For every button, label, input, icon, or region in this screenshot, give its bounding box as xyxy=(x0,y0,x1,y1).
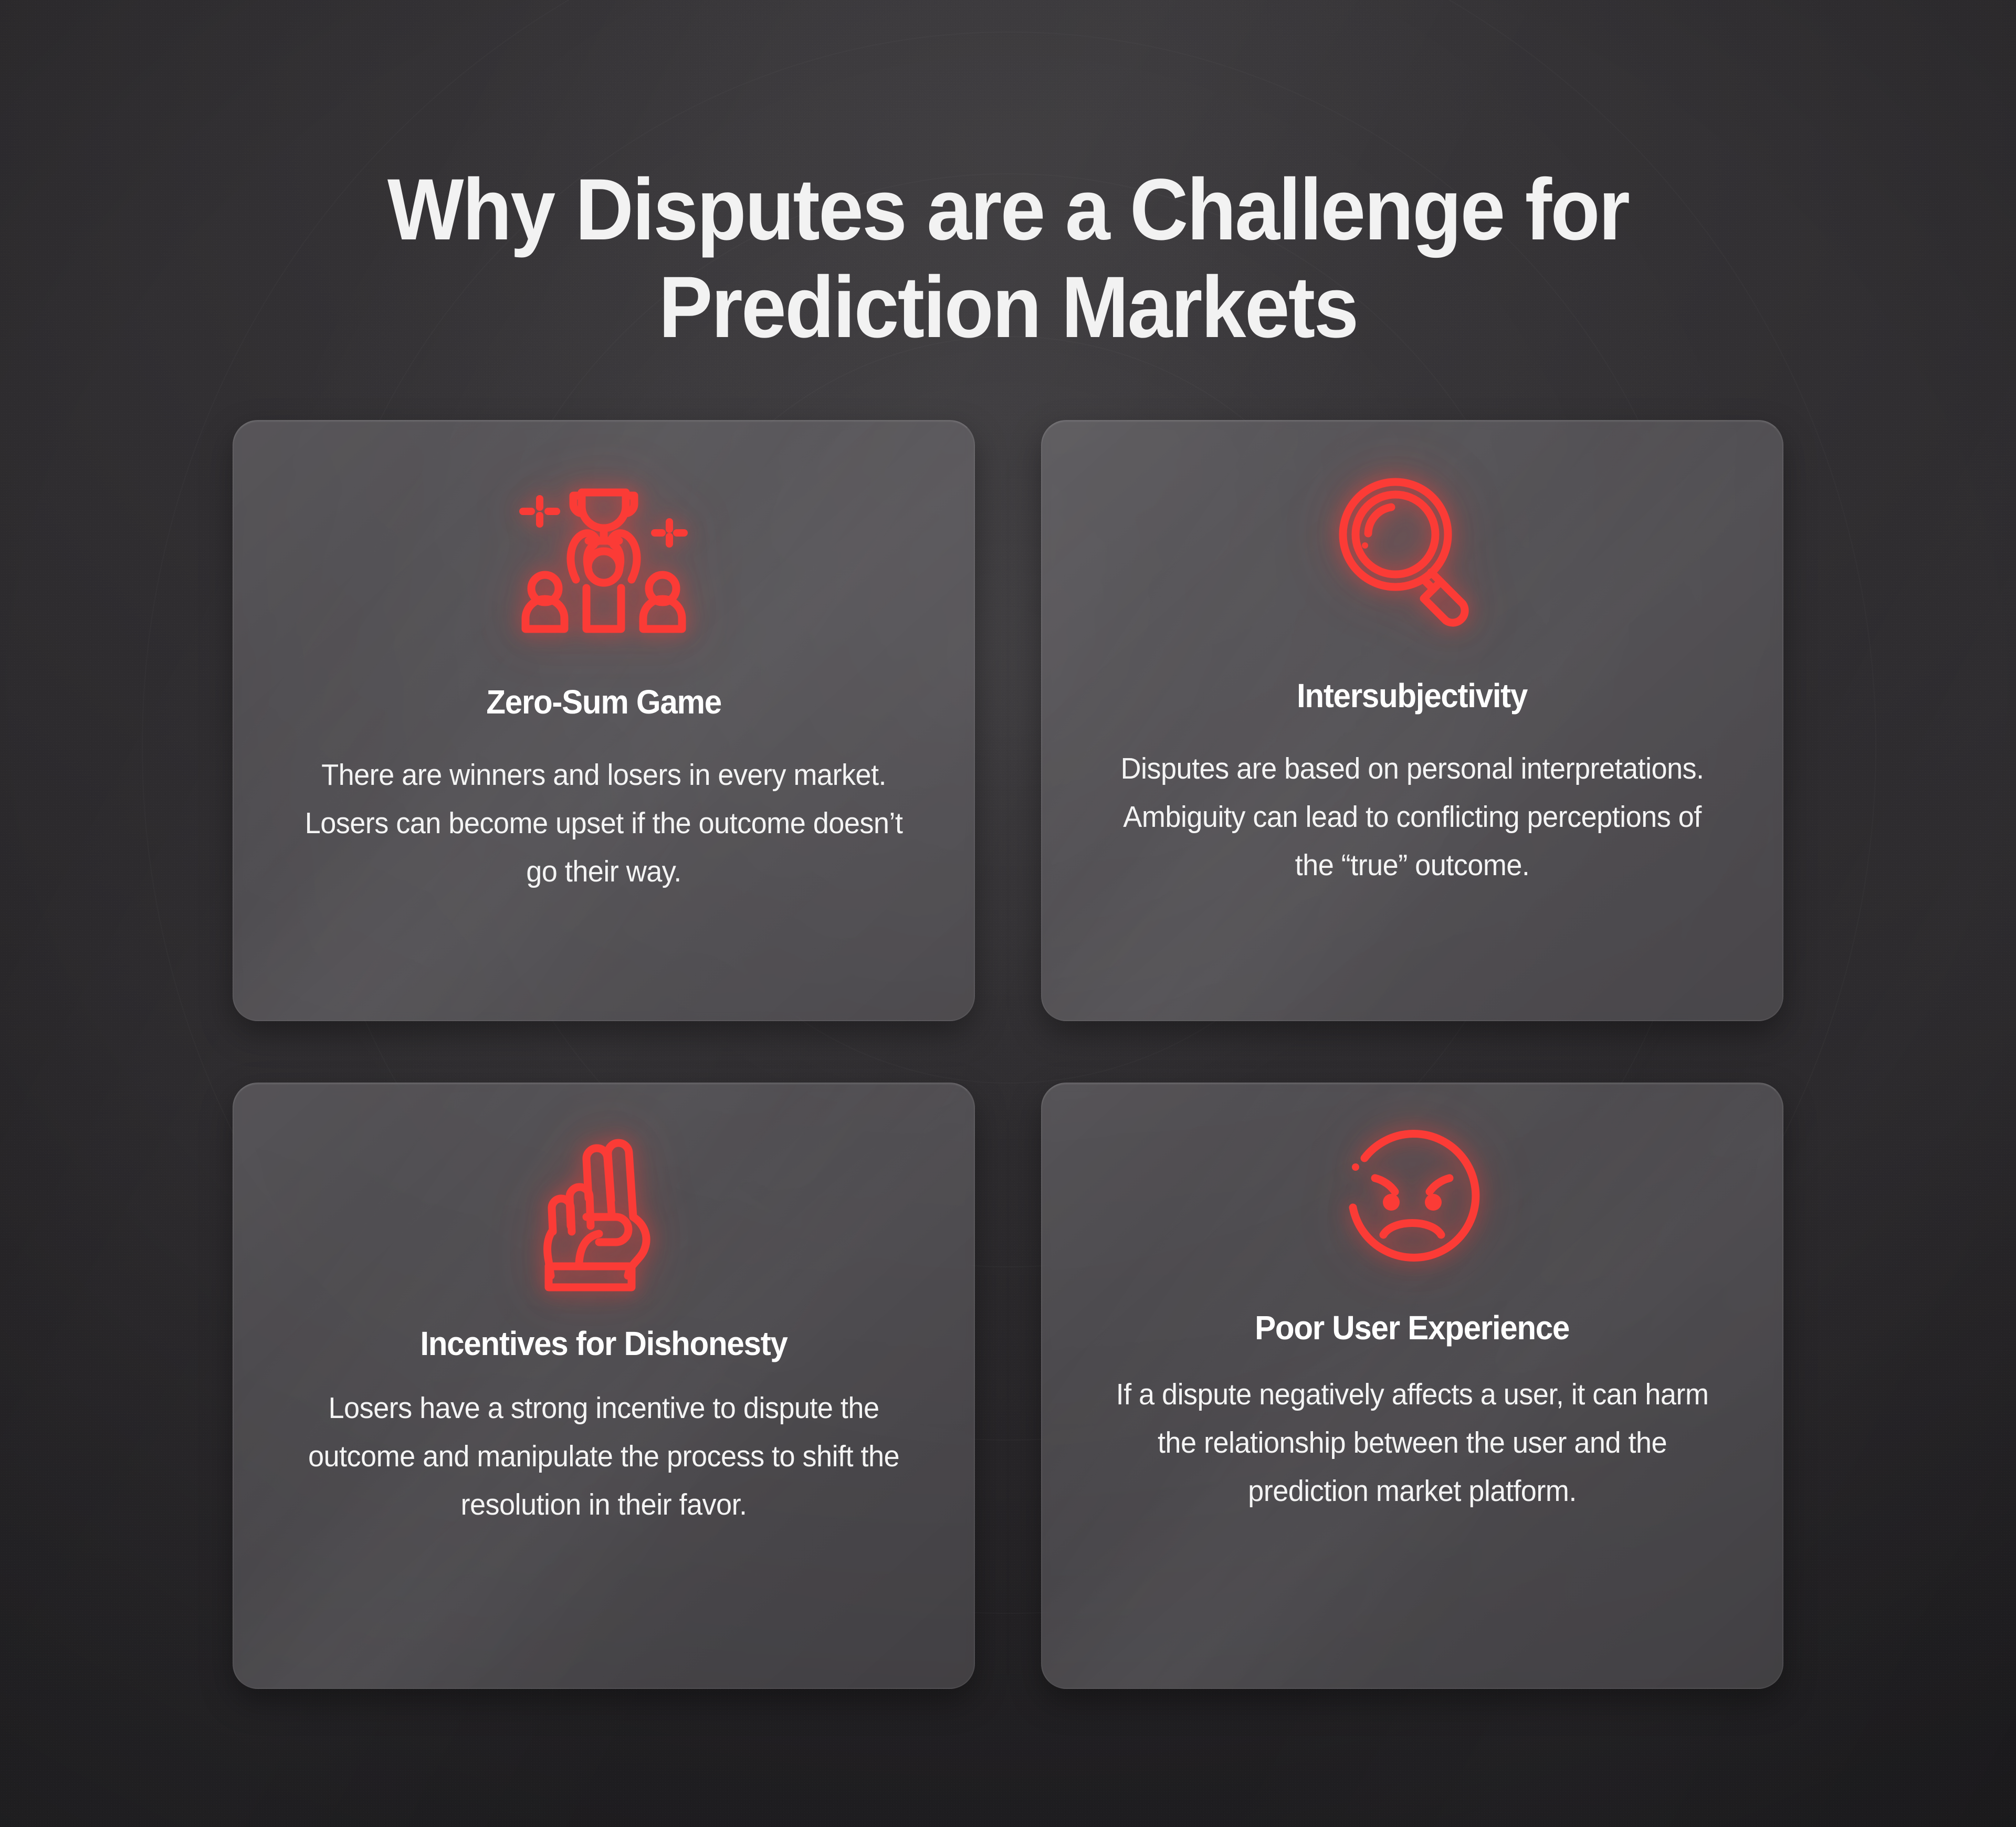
page-title-line-1: Why Disputes are a Challenge for xyxy=(276,161,1740,259)
cards-grid: Zero-Sum Game There are winners and lose… xyxy=(233,420,1783,1689)
card-title: Intersubjectivity xyxy=(1297,678,1527,714)
card-title: Poor User Experience xyxy=(1255,1310,1570,1346)
card-intersubjectivity[interactable]: Intersubjectivity Disputes are based on … xyxy=(1041,420,1783,1021)
card-title: Incentives for Dishonesty xyxy=(420,1326,787,1362)
card-poor-user-experience[interactable]: Poor User Experience If a dispute negati… xyxy=(1041,1083,1783,1689)
crossed-fingers-icon xyxy=(538,1134,669,1291)
card-body: Disputes are based on personal interpret… xyxy=(1104,744,1721,890)
trophy-winner-icon xyxy=(517,477,690,639)
card-body: If a dispute negatively affects a user, … xyxy=(1104,1370,1721,1516)
card-zero-sum-game[interactable]: Zero-Sum Game There are winners and lose… xyxy=(233,420,975,1021)
angry-face-icon xyxy=(1341,1123,1483,1265)
infographic-root: Why Disputes are a Challenge for Predict… xyxy=(0,0,2016,1827)
card-incentives-for-dishonesty[interactable]: Incentives for Dishonesty Losers have a … xyxy=(233,1083,975,1689)
magnifying-glass-icon xyxy=(1333,472,1491,630)
card-title: Zero-Sum Game xyxy=(486,685,721,720)
card-body: There are winners and losers in every ma… xyxy=(295,751,912,896)
card-body: Losers have a strong incentive to disput… xyxy=(295,1384,912,1529)
page-title-line-2: Prediction Markets xyxy=(276,259,1740,356)
page-title: Why Disputes are a Challenge for Predict… xyxy=(220,161,1795,356)
